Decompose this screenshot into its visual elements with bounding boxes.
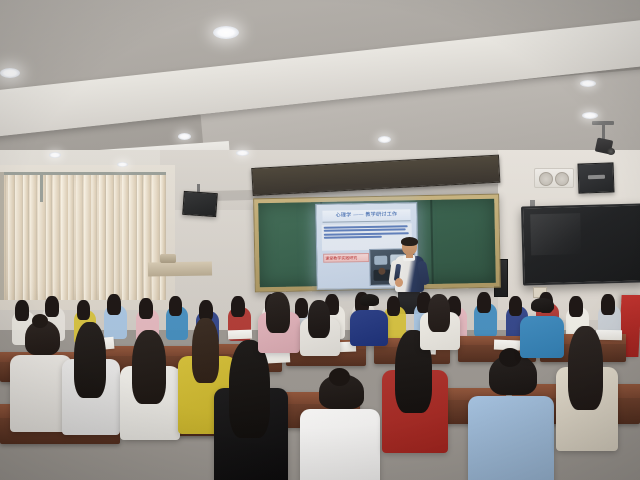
blind-slat [23, 172, 29, 300]
blind-slat [144, 172, 151, 300]
blind-slat [53, 172, 60, 300]
audience-hair [229, 340, 270, 438]
vertical-blinds[interactable] [0, 172, 166, 300]
projector-lens-icon [607, 148, 615, 155]
ceiling-downlight [582, 112, 598, 119]
classroom-photo: 心理学 —— 教学研讨工作 课堂教学实践研究 [0, 0, 640, 480]
ceiling-downlight [236, 150, 249, 156]
blind-slat [99, 172, 106, 300]
blind-slat [160, 172, 166, 300]
audience-member [474, 292, 498, 338]
audience-hair [387, 296, 400, 316]
audience-hair [231, 296, 245, 317]
presenter-hair [401, 237, 418, 246]
window-frame [0, 172, 4, 300]
speaker-left [182, 191, 218, 217]
blind-slat [122, 172, 129, 300]
ceiling-downlight [178, 133, 191, 140]
blind-slat [46, 172, 52, 300]
audience-member [62, 322, 120, 430]
hair-bun [499, 348, 521, 367]
audience-body [300, 409, 380, 480]
audience-member [420, 294, 460, 348]
front-table [148, 261, 212, 276]
audience-hair [477, 292, 491, 313]
slide-title-bar: 心理学 —— 教学研讨工作 [322, 209, 410, 223]
ceiling-downlight [0, 68, 20, 78]
hair-bun [32, 314, 48, 328]
audience-hair [77, 300, 90, 320]
audience-member [520, 296, 564, 356]
audience-member [300, 300, 340, 354]
blind-slat [68, 172, 74, 300]
window-mullion-horizontal [0, 172, 166, 175]
audience-hair [266, 292, 290, 333]
ceiling-downlight [580, 80, 596, 87]
audience-hair [601, 294, 615, 315]
wall-display[interactable] [521, 203, 640, 285]
audience-member [468, 352, 554, 480]
blind-slat [76, 172, 83, 300]
audience-hair [568, 326, 603, 410]
air-vent-icon [534, 168, 574, 188]
slide-highlight-box: 课堂教学实践研究 [323, 253, 369, 263]
audience-hair [107, 294, 121, 315]
audience-member [300, 372, 380, 480]
audience-member [556, 326, 618, 446]
blind-slat [30, 172, 37, 300]
ceiling-downlight [117, 162, 128, 167]
audience-member [214, 340, 288, 480]
slide-highlight-text: 课堂教学实践研究 [325, 255, 357, 262]
blind-slat [137, 172, 143, 300]
blind-slat [114, 172, 120, 300]
audience-hair [169, 296, 182, 316]
slide-title-text: 心理学 —— 教学研讨工作 [322, 210, 410, 219]
audience-hair [132, 330, 166, 404]
window-mullion-vertical [40, 172, 43, 202]
audience-hair [308, 300, 330, 338]
presenter-hand [395, 278, 403, 287]
speaker-right [577, 162, 614, 193]
hair-bun [329, 368, 350, 386]
audience-member [350, 292, 388, 344]
ceiling-downlight [213, 26, 239, 39]
audience-hair [428, 294, 450, 332]
audience-hair [45, 296, 59, 317]
audience-member [120, 330, 180, 435]
audience-body [468, 396, 554, 480]
audience-hair [74, 322, 106, 398]
blind-slat [8, 172, 15, 300]
table-object [160, 254, 176, 263]
ceiling-downlight [378, 136, 391, 143]
audience-hair [360, 294, 379, 306]
audience-body [520, 316, 564, 358]
audience-body [350, 310, 388, 346]
audience-member [258, 292, 300, 350]
blind-slat [91, 172, 97, 300]
ceiling-downlight [49, 152, 61, 158]
audience-hair [139, 298, 153, 319]
audience-hair [531, 298, 554, 312]
audience-hair [569, 296, 583, 317]
